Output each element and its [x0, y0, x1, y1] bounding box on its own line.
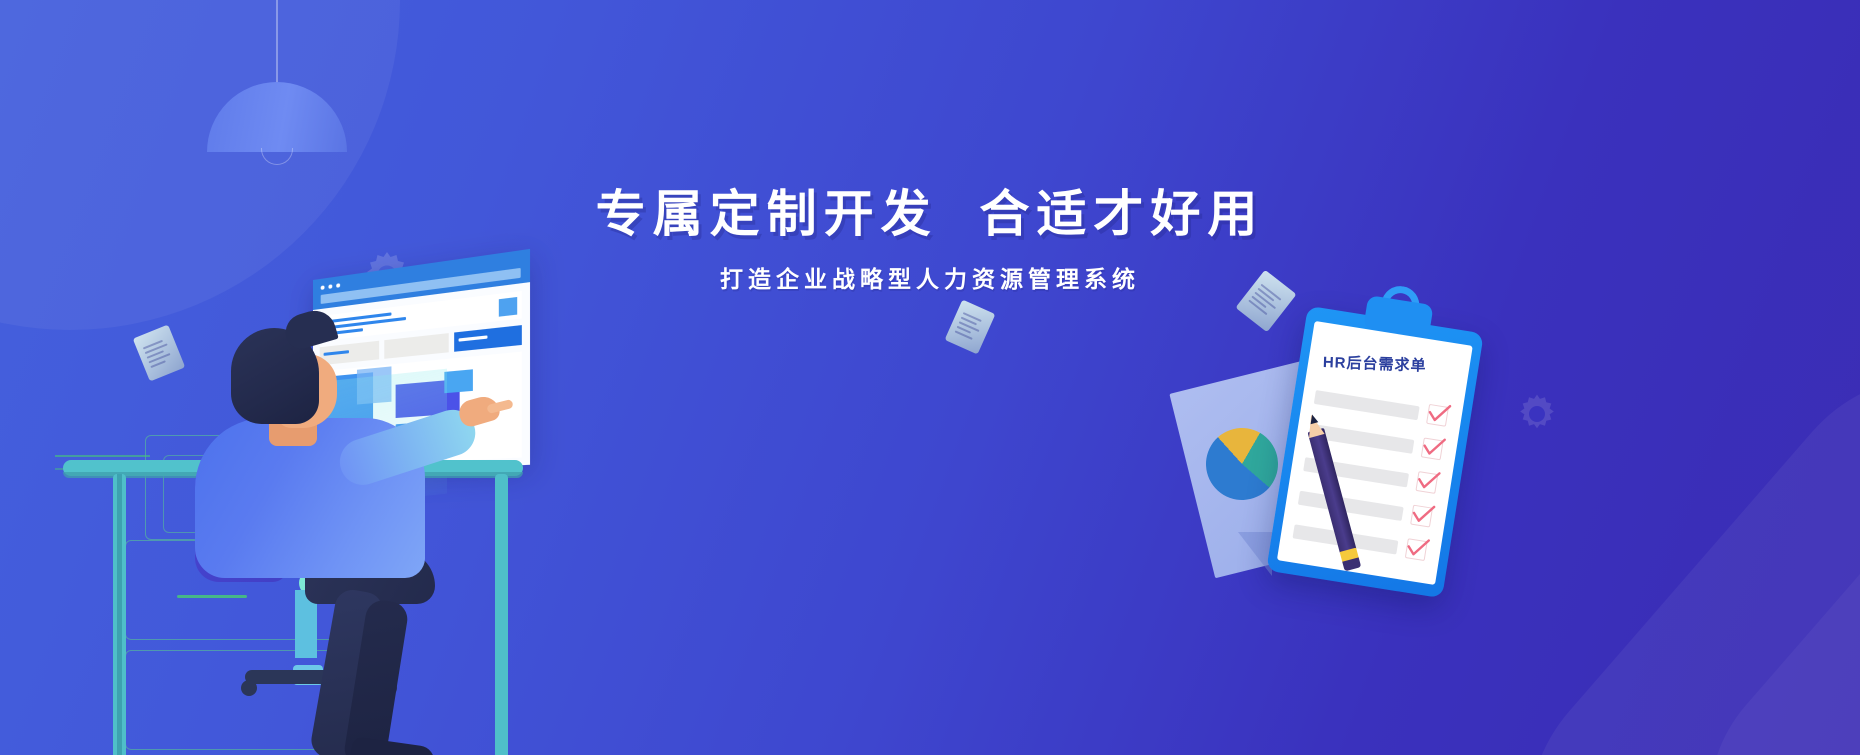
content-thumb	[499, 297, 517, 317]
wireframe-accent-line-2	[55, 455, 150, 457]
lamp-shade	[207, 82, 347, 152]
desk-leg-shade	[117, 474, 122, 755]
gear-right-icon	[1516, 393, 1558, 435]
person-shoe	[350, 736, 437, 755]
checklist-bar	[1314, 390, 1420, 420]
check-icon	[1413, 467, 1443, 497]
clipboard-title: HR后台需求单	[1323, 351, 1427, 376]
wireframe-accent-line	[177, 595, 247, 598]
illustration-hr-clipboard: HR后台需求单	[1190, 310, 1520, 640]
check-icon	[1424, 400, 1454, 430]
paper-sheet	[945, 300, 996, 355]
check-icon	[1418, 433, 1448, 463]
window-controls-icon	[321, 283, 340, 290]
content-cell-active	[454, 325, 522, 352]
lamp-cord	[276, 0, 278, 84]
check-icon	[1403, 534, 1433, 564]
desk-leg-right	[495, 474, 508, 755]
content-cell	[385, 333, 449, 359]
check-icon	[1408, 500, 1438, 530]
pendant-lamp-icon	[207, 0, 347, 161]
clipboard: HR后台需求单	[1266, 306, 1484, 599]
paper-mid-icon	[945, 300, 996, 355]
content-cell	[320, 341, 380, 366]
illustration-person-at-desk	[55, 250, 595, 755]
office-chair-wheel	[241, 680, 257, 696]
content-block-d	[444, 369, 473, 393]
checklist	[1288, 384, 1453, 574]
hero-banner: 专属定制开发 合适才好用 打造企业战略型人力资源管理系统	[0, 0, 1860, 755]
